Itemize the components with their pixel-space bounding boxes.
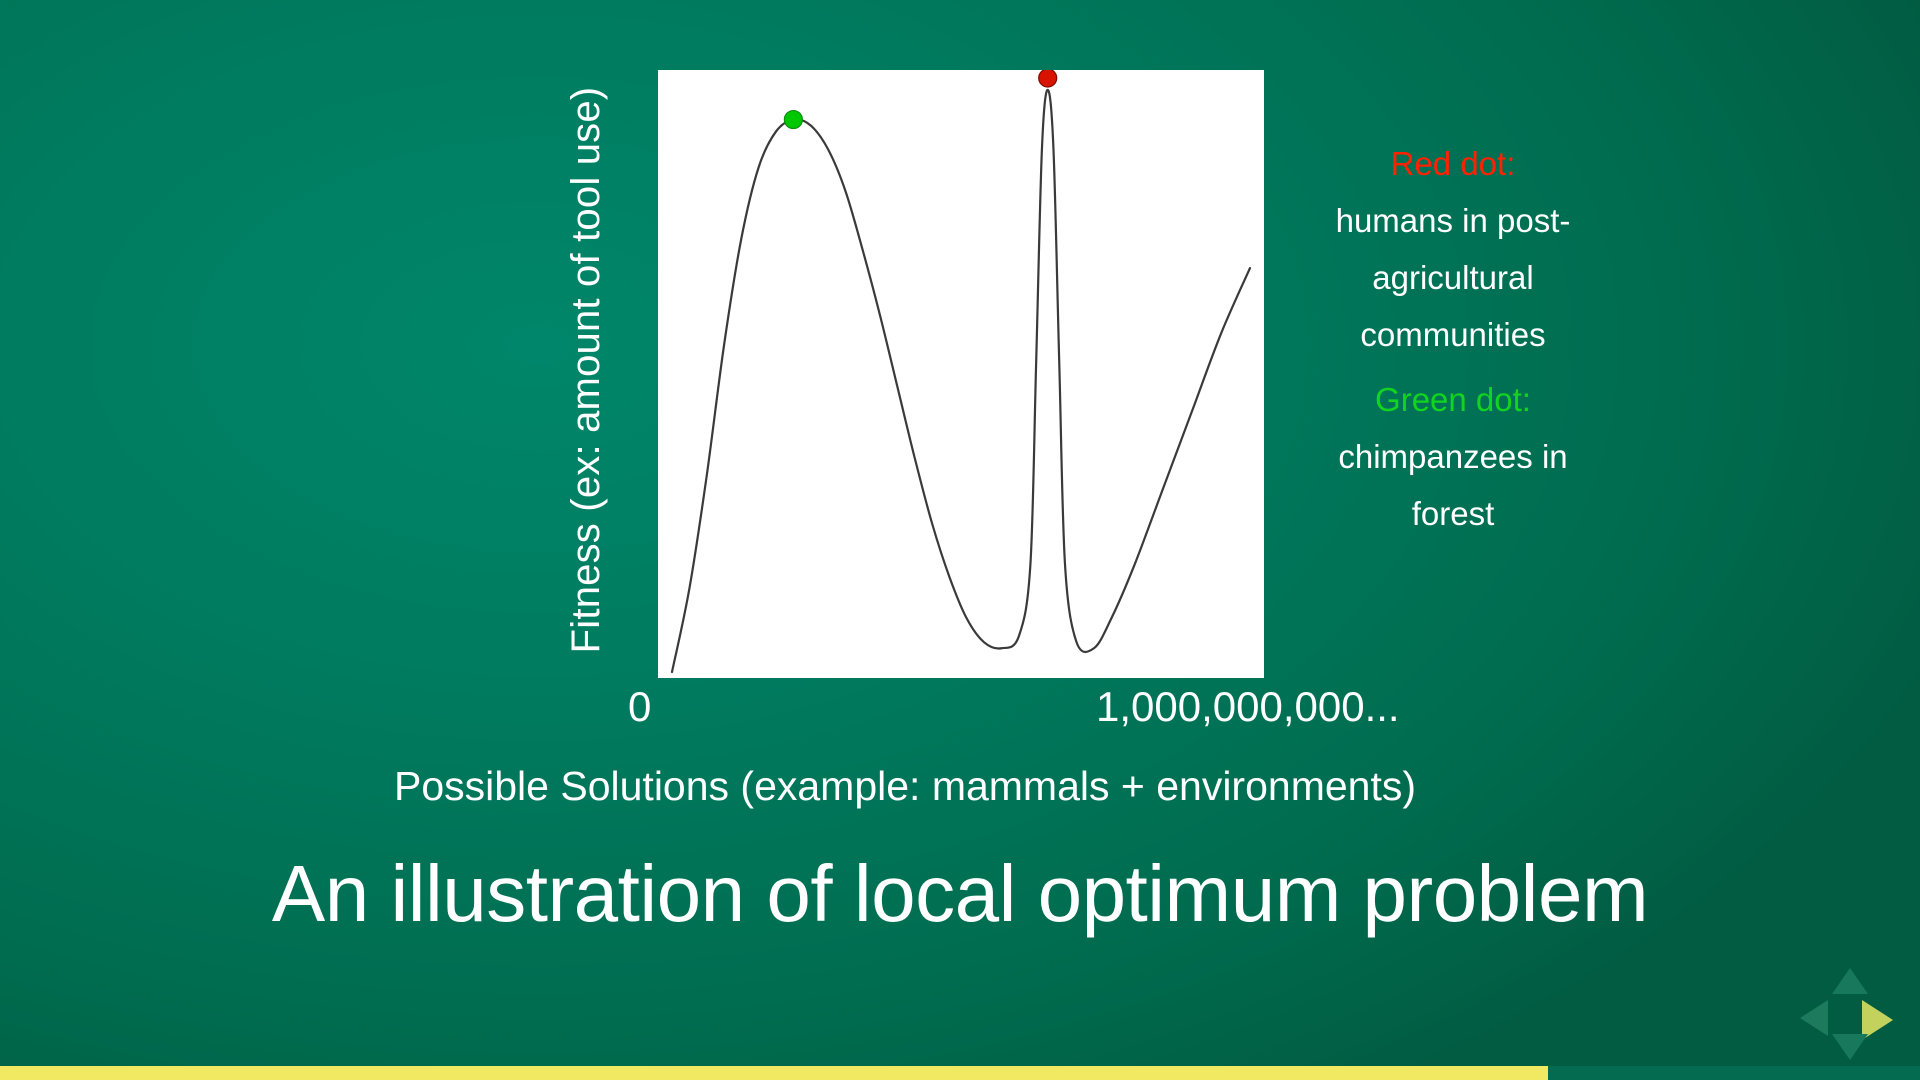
- presentation-progress-fill: [0, 1066, 1548, 1080]
- curve-line: [672, 90, 1250, 672]
- legend-group-green: Green dot: chimpanzees in forest: [1318, 371, 1588, 542]
- fitness-landscape-curve: [658, 70, 1264, 678]
- x-axis-title: Possible Solutions (example: mammals + e…: [0, 758, 1920, 814]
- slide-title: An illustration of local optimum problem: [120, 838, 1800, 950]
- legend-green-heading: Green dot:: [1318, 371, 1588, 428]
- presentation-progress-track[interactable]: [0, 1066, 1920, 1080]
- legend-group-red: Red dot: humans in post-agricultural com…: [1318, 135, 1588, 363]
- chevron-down-icon[interactable]: [1832, 1034, 1868, 1060]
- x-axis-tick-max: 1,000,000,000...: [1096, 680, 1400, 734]
- legend-red-body: humans in post-agricultural communities: [1318, 192, 1588, 363]
- red-dot: [1039, 70, 1057, 87]
- green-dot: [784, 111, 802, 129]
- slide-canvas: Fitness (ex: amount of tool use) 0 1,000…: [0, 0, 1920, 1080]
- chevron-left-icon[interactable]: [1800, 1000, 1828, 1036]
- chart-legend: Red dot: humans in post-agricultural com…: [1318, 135, 1588, 542]
- x-axis-tick-min: 0: [628, 680, 651, 734]
- legend-green-body: chimpanzees in forest: [1318, 428, 1588, 542]
- navigation-controls[interactable]: [1800, 968, 1904, 1060]
- chevron-up-icon[interactable]: [1832, 968, 1868, 994]
- legend-red-heading: Red dot:: [1318, 135, 1588, 192]
- y-axis-title: Fitness (ex: amount of tool use): [558, 50, 614, 690]
- chart-plot-area: [658, 70, 1264, 678]
